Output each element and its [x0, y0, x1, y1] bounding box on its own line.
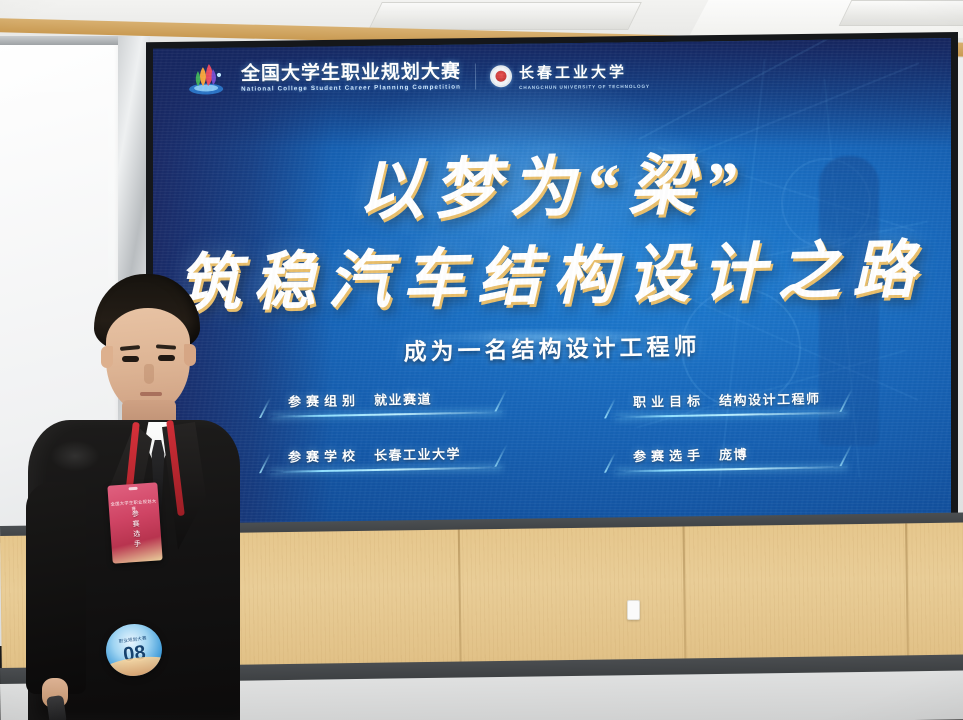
field-underline — [615, 466, 848, 472]
field-tick-left — [604, 398, 616, 418]
slide-title-line2: 筑稳汽车结构设计之路 — [153, 218, 951, 324]
whiteboard-frame-top — [0, 36, 126, 45]
info-field-contestant: 参赛选手 庞博 — [633, 444, 748, 465]
eye-right — [158, 355, 175, 361]
info-field-row: 参赛组别 就业赛道 职业目标 结构设计工程师 — [153, 390, 951, 445]
competition-name-zh: 全国大学生职业规划大赛 — [241, 62, 461, 85]
field-label: 参赛学校 — [288, 445, 360, 465]
field-tick-left — [259, 453, 271, 473]
suit-sleeve — [26, 482, 86, 694]
field-value: 庞博 — [719, 444, 748, 464]
field-tick-right — [494, 389, 507, 411]
shoulder-highlight — [40, 434, 110, 478]
info-field-competition-group: 参赛组别 就业赛道 — [288, 389, 432, 411]
field-value: 长春工业大学 — [374, 443, 461, 464]
field-underline — [270, 467, 503, 473]
eye-left — [122, 356, 139, 362]
face — [106, 308, 190, 412]
field-tick-left — [259, 398, 271, 418]
university-text: 长春工业大学 CHANGCHUN UNIVERSITY OF TECHNOLOG… — [519, 61, 650, 90]
field-underline — [270, 411, 503, 417]
field-tick-right — [839, 444, 852, 466]
badge-slot — [128, 487, 137, 491]
screen-content: 全国大学生职业规划大赛 National College Student Car… — [153, 38, 951, 534]
led-screen: 全国大学生职业规划大赛 National College Student Car… — [153, 38, 951, 534]
id-badge: 全国大学生职业规划大赛 参赛选手 — [107, 482, 162, 563]
photo-scene: 全国大学生职业规划大赛 National College Student Car… — [0, 0, 963, 720]
competition-logo-text: 全国大学生职业规划大赛 National College Student Car… — [241, 63, 461, 93]
ear-left — [101, 346, 113, 368]
field-label: 参赛组别 — [288, 390, 360, 410]
ceiling-light-panel — [368, 2, 642, 30]
competition-name-en: National College Student Career Planning… — [241, 84, 461, 93]
slide-info-fields: 参赛组别 就业赛道 职业目标 结构设计工程师 — [153, 390, 951, 500]
field-label: 参赛选手 — [633, 445, 705, 465]
badge-role-text: 参赛选手 — [129, 510, 142, 551]
slide-subtitle: 成为一名结构设计工程师 — [153, 322, 951, 371]
ear-right — [184, 344, 196, 366]
flame-swoosh-icon — [187, 62, 227, 96]
university-name-zh: 长春工业大学 — [519, 61, 650, 83]
presenter: 全国大学生职业规划大赛 参赛选手 职业规划大赛 08 — [10, 272, 240, 720]
field-tick-left — [604, 452, 616, 472]
field-tick-right — [494, 444, 507, 466]
field-value: 就业赛道 — [374, 389, 432, 409]
university-logo: 长春工业大学 CHANGCHUN UNIVERSITY OF TECHNOLOG… — [490, 61, 650, 91]
wall-outlet — [627, 600, 640, 620]
screen-header-logos: 全国大学生职业规划大赛 National College Student Car… — [187, 58, 650, 96]
ceiling-light-panel — [839, 0, 963, 26]
nose — [144, 364, 154, 384]
field-value: 结构设计工程师 — [719, 388, 821, 409]
university-seal-icon — [490, 65, 512, 87]
info-field-row: 参赛学校 长春工业大学 参赛选手 庞博 — [153, 445, 951, 500]
mouth — [140, 392, 162, 396]
field-underline — [615, 412, 848, 418]
info-field-career-goal: 职业目标 结构设计工程师 — [633, 388, 821, 411]
info-field-school: 参赛学校 长春工业大学 — [288, 443, 461, 465]
field-tick-right — [839, 390, 852, 412]
logo-divider — [475, 63, 476, 89]
field-label: 职业目标 — [633, 390, 705, 410]
university-name-en: CHANGCHUN UNIVERSITY OF TECHNOLOGY — [519, 84, 650, 90]
